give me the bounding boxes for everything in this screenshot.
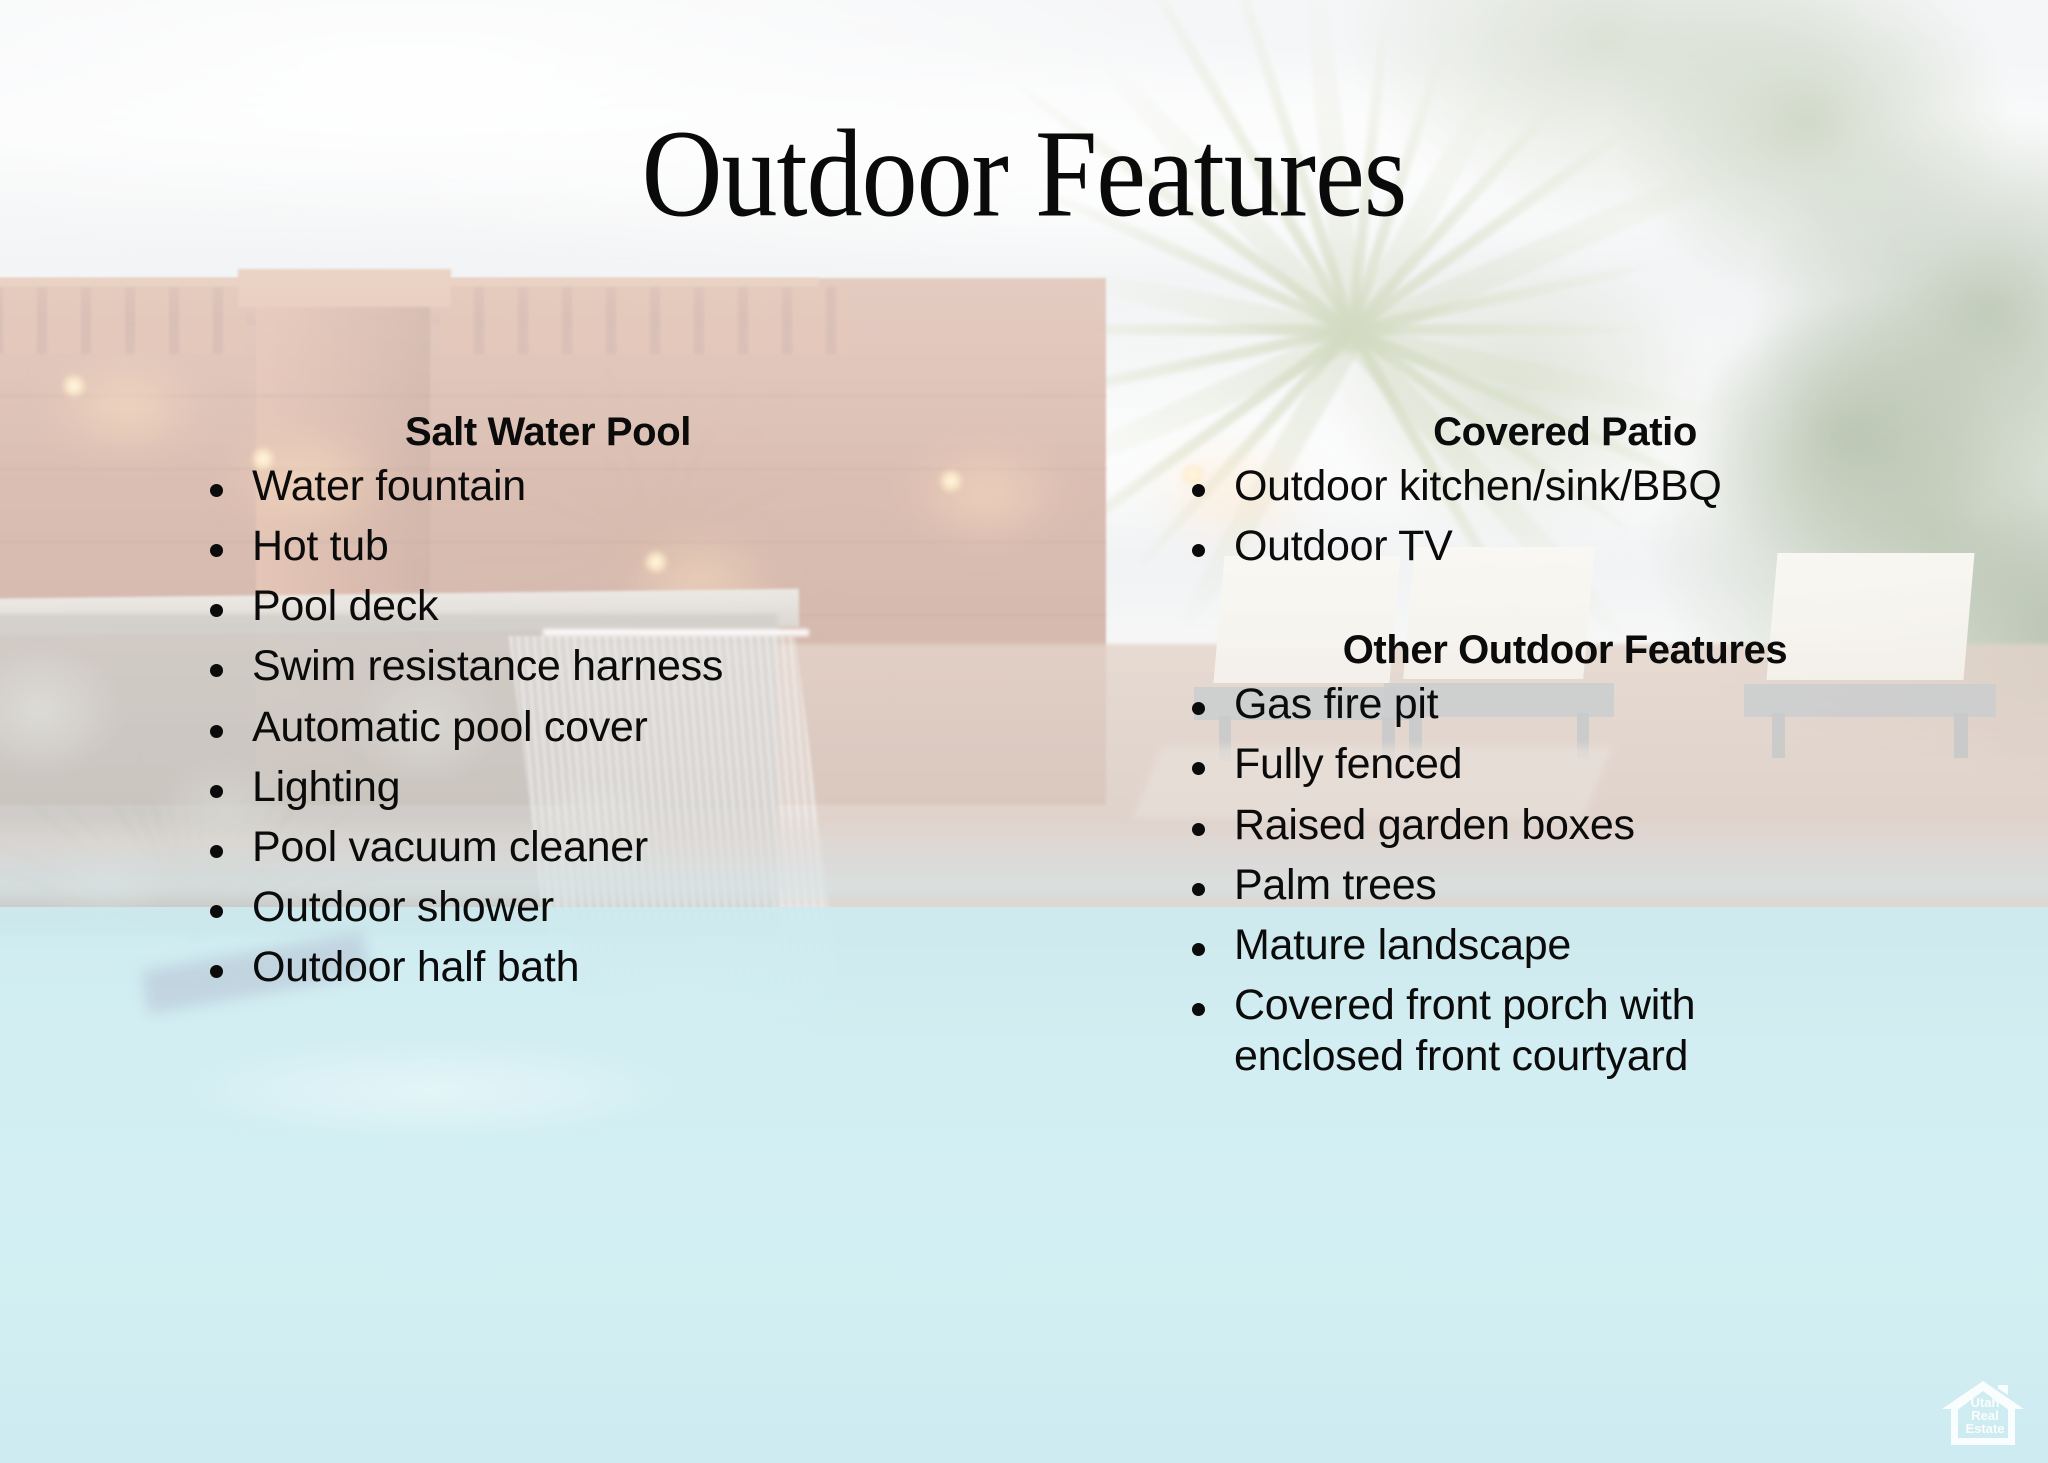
list-item: Palm trees <box>1178 860 2048 911</box>
slide-outdoor-features: Outdoor Features Salt Water Pool Water f… <box>0 0 2048 1463</box>
group-heading-salt-water-pool: Salt Water Pool <box>196 410 1024 455</box>
list-item: Pool deck <box>196 581 1024 632</box>
list-item: Pool vacuum cleaner <box>196 822 1024 873</box>
left-column: Salt Water Pool Water fountain Hot tub P… <box>0 410 1024 1002</box>
list-item: Gas fire pit <box>1178 679 2048 730</box>
list-item: Swim resistance harness <box>196 641 1024 692</box>
feature-group-covered-patio: Covered Patio Outdoor kitchen/sink/BBQ O… <box>1178 410 2048 572</box>
group-heading-covered-patio: Covered Patio <box>1178 410 2048 455</box>
list-item: Covered front porch with enclosed front … <box>1178 980 1874 1082</box>
list-item: Water fountain <box>196 461 1024 512</box>
list-item: Automatic pool cover <box>196 702 1024 753</box>
feature-group-other-outdoor-features: Other Outdoor Features Gas fire pit Full… <box>1178 628 2048 1082</box>
feature-list-covered-patio: Outdoor kitchen/sink/BBQ Outdoor TV <box>1178 461 2048 572</box>
feature-columns: Salt Water Pool Water fountain Hot tub P… <box>0 410 2048 1091</box>
list-item: Mature landscape <box>1178 920 2048 971</box>
list-item: Raised garden boxes <box>1178 800 2048 851</box>
right-column: Covered Patio Outdoor kitchen/sink/BBQ O… <box>1024 410 2048 1091</box>
list-item: Fully fenced <box>1178 739 2048 790</box>
slide-content: Outdoor Features Salt Water Pool Water f… <box>0 0 2048 1463</box>
list-item: Outdoor half bath <box>196 942 1024 993</box>
list-item: Outdoor kitchen/sink/BBQ <box>1178 461 2048 512</box>
list-item: Outdoor shower <box>196 882 1024 933</box>
feature-list-salt-water-pool: Water fountain Hot tub Pool deck Swim re… <box>196 461 1024 993</box>
list-item: Outdoor TV <box>1178 521 2048 572</box>
house-icon: Utah Real Estate .com <box>1936 1373 2030 1451</box>
feature-group-salt-water-pool: Salt Water Pool Water fountain Hot tub P… <box>196 410 1024 993</box>
group-heading-other-outdoor-features: Other Outdoor Features <box>1178 628 2048 673</box>
feature-list-other-outdoor-features: Gas fire pit Fully fenced Raised garden … <box>1178 679 2048 1082</box>
page-title: Outdoor Features <box>0 111 2048 236</box>
list-item: Hot tub <box>196 521 1024 572</box>
watermark-line-4: .com <box>1979 1435 2005 1447</box>
watermark-line-3: Estate <box>1965 1421 2004 1436</box>
list-item: Lighting <box>196 762 1024 813</box>
watermark-utahrealestate: Utah Real Estate .com <box>1936 1373 2030 1451</box>
